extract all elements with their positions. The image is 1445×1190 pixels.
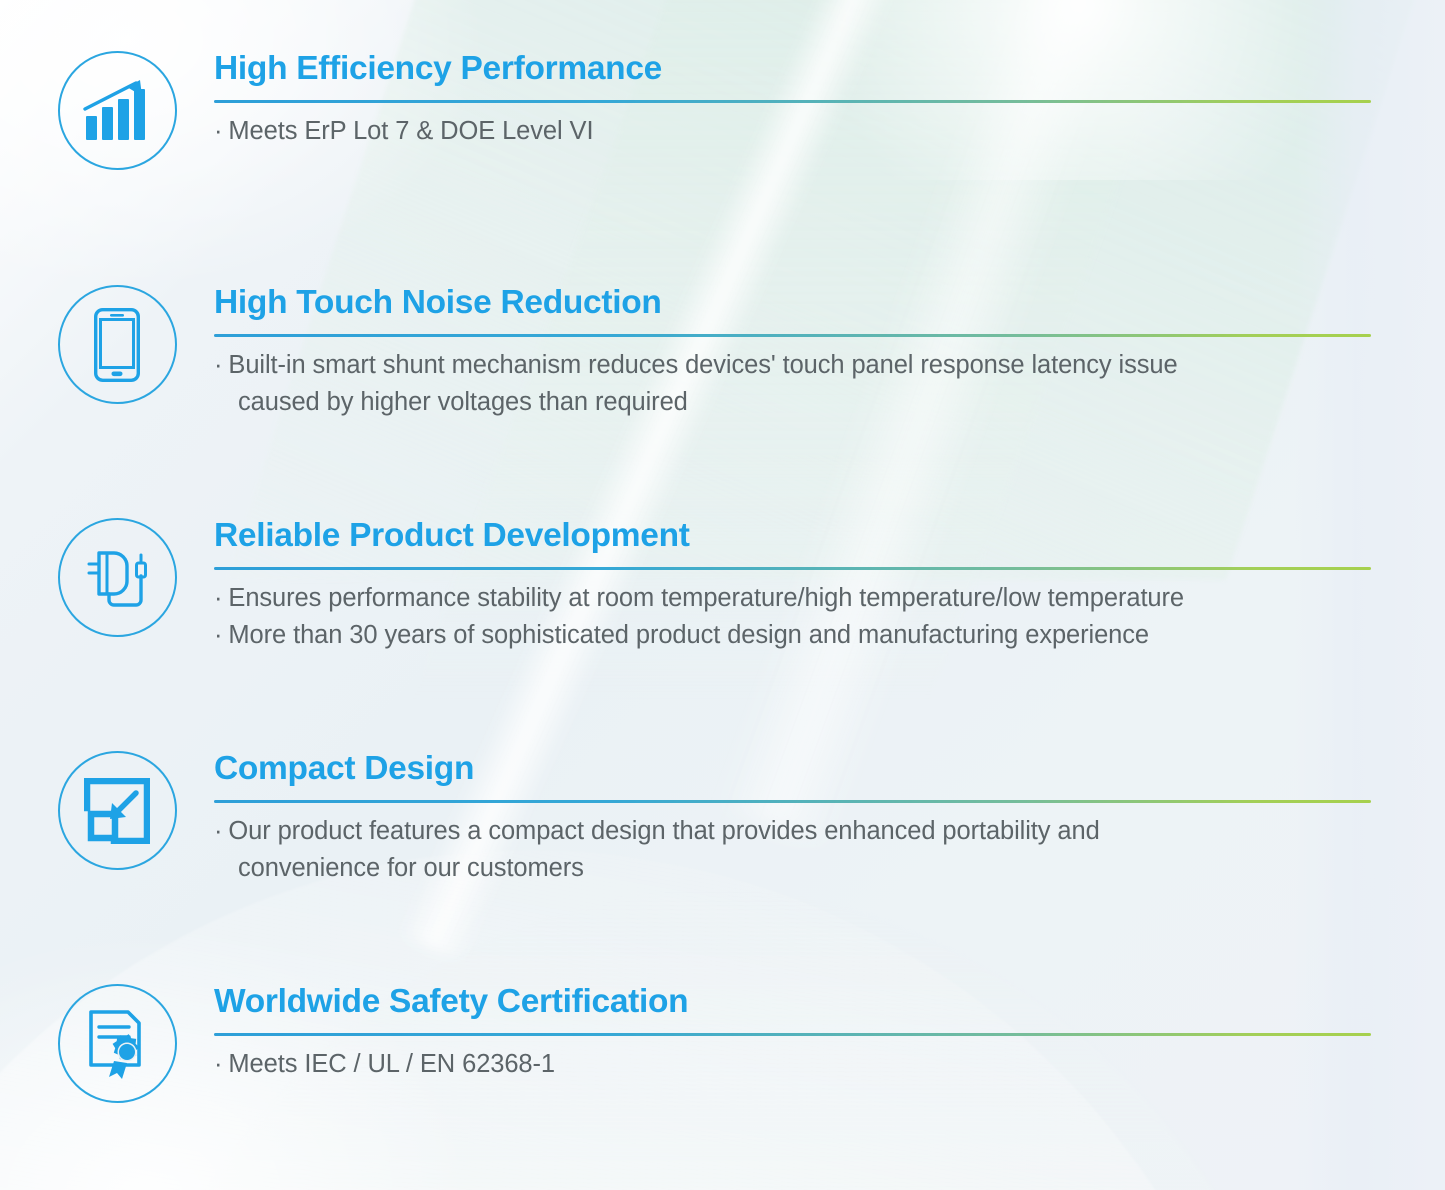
feature-body: Reliable Product Development ·Ensures pe… [214,518,1445,654]
bullet-marker: · [214,117,222,145]
bullet-line: ·Meets IEC / UL / EN 62368-1 [214,1046,1371,1083]
feature-item-high-touch-noise-reduction: High Touch Noise Reduction ·Built-in sma… [0,285,1445,421]
bullet-line: ·Our product features a compact design t… [214,813,1371,850]
certificate-seal-icon [58,984,177,1103]
bullet-line: ·Meets ErP Lot 7 & DOE Level VI [214,113,1371,150]
feature-icon-wrapper [55,518,179,637]
bullet-text: Our product features a compact design th… [228,817,1099,845]
bullet-line: ·Ensures performance stability at room t… [214,580,1371,617]
feature-divider [214,100,1371,103]
bullet-marker: · [214,1050,222,1078]
bar-chart-growth-icon [58,51,177,170]
feature-icon-wrapper [55,285,179,404]
feature-item-worldwide-safety-certification: Worldwide Safety Certification ·Meets IE… [0,984,1445,1103]
feature-icon-wrapper [55,51,179,170]
feature-title: High Touch Noise Reduction [214,285,1371,320]
bullet-line: ·Built-in smart shunt mechanism reduces … [214,347,1371,384]
feature-title: Compact Design [214,751,1371,786]
bullet-marker: · [214,621,222,649]
feature-divider [214,800,1371,803]
feature-bullets: ·Meets IEC / UL / EN 62368-1 [214,1046,1371,1083]
bullet-marker: · [214,351,222,379]
feature-icon-wrapper [55,984,179,1103]
feature-title: Worldwide Safety Certification [214,984,1371,1019]
power-adapter-icon [58,518,177,637]
bullet-line-continuation: caused by higher voltages than required [214,384,1371,421]
bullet-text: Ensures performance stability at room te… [228,584,1184,612]
feature-body: Worldwide Safety Certification ·Meets IE… [214,984,1445,1083]
feature-divider [214,1033,1371,1036]
bullet-line-continuation: convenience for our customers [214,850,1371,887]
feature-icon-wrapper [55,751,179,870]
feature-title: High Efficiency Performance [214,51,1371,86]
bullet-text: More than 30 years of sophisticated prod… [228,621,1149,649]
feature-bullets: ·Ensures performance stability at room t… [214,580,1371,654]
feature-bullets: ·Built-in smart shunt mechanism reduces … [214,347,1371,421]
feature-item-high-efficiency-performance: High Efficiency Performance ·Meets ErP L… [0,51,1445,170]
bullet-line: ·More than 30 years of sophisticated pro… [214,617,1371,654]
bullet-marker: · [214,584,222,612]
feature-body: High Touch Noise Reduction ·Built-in sma… [214,285,1445,421]
feature-body: Compact Design ·Our product features a c… [214,751,1445,887]
bullet-text: convenience for our customers [238,854,584,882]
bullet-marker: · [214,817,222,845]
feature-divider [214,567,1371,570]
bullet-text: Meets IEC / UL / EN 62368-1 [228,1050,555,1078]
bullet-text: caused by higher voltages than required [238,388,688,416]
feature-item-reliable-product-development: Reliable Product Development ·Ensures pe… [0,518,1445,654]
feature-title: Reliable Product Development [214,518,1371,553]
bullet-text: Built-in smart shunt mechanism reduces d… [228,351,1177,379]
feature-highlights-panel: High Efficiency Performance ·Meets ErP L… [0,0,1445,1190]
feature-divider [214,334,1371,337]
smartphone-icon [58,285,177,404]
feature-bullets: ·Meets ErP Lot 7 & DOE Level VI [214,113,1371,150]
bullet-text: Meets ErP Lot 7 & DOE Level VI [228,117,593,145]
feature-bullets: ·Our product features a compact design t… [214,813,1371,887]
feature-body: High Efficiency Performance ·Meets ErP L… [214,51,1445,150]
feature-item-compact-design: Compact Design ·Our product features a c… [0,751,1445,887]
compact-resize-icon [58,751,177,870]
